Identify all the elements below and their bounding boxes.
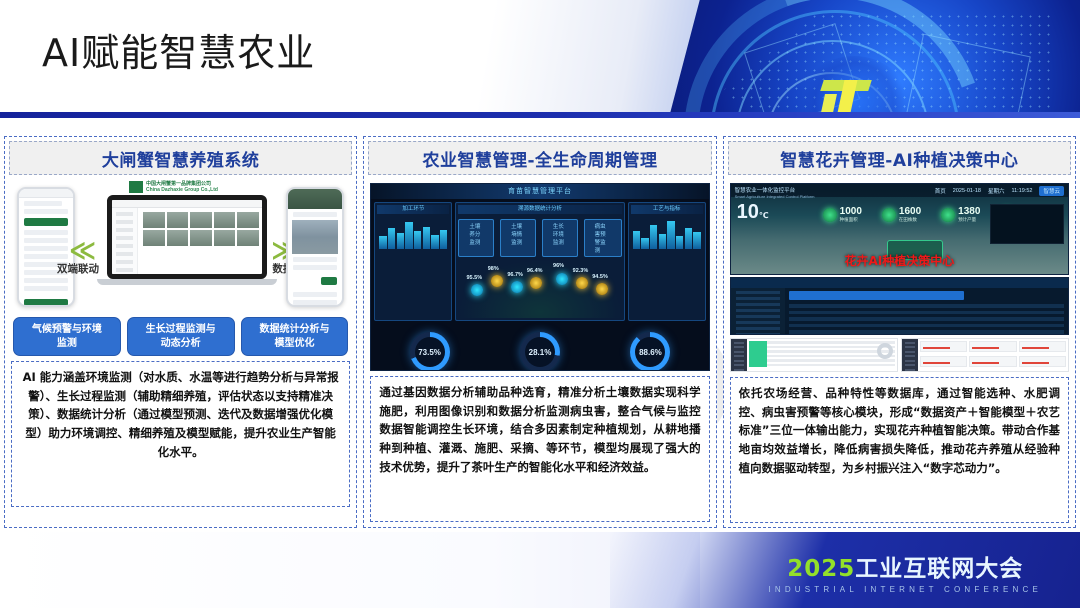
metric-area: 1000 种植面积 [823, 206, 862, 223]
header-meta-3: 11:19:52 [1011, 188, 1032, 194]
panel-smart-flower: 智慧花卉管理-AI种植决策中心 智慧农业一体化监控平台 Smart Agricu… [723, 136, 1076, 528]
panel-2-body: 育苗智慧管理平台 加工环节 溯源数据统计分析 土壤 [368, 175, 711, 522]
metric-area-icon [823, 208, 837, 222]
panel-1-text-box: AI 能力涵盖环境监测（对水质、水温等进行趋势分析与异常报警）、生长过程监测（辅… [11, 361, 350, 507]
slide-root: AI赋能智慧农业 大闸蟹智慧养殖系统 [0, 0, 1080, 608]
dashboard-col-label-1: 溯源数据统计分析 [458, 205, 621, 214]
kpi-unit: ℃ [759, 211, 769, 220]
lifecycle-dashboard: 育苗智慧管理平台 加工环节 溯源数据统计分析 土壤 [370, 183, 709, 371]
panel-2-heading-box: 农业智慧管理-全生命周期管理 [368, 141, 711, 175]
metric-area-value: 1000 [840, 206, 862, 217]
flower-dashboard-header: 智慧农业一体化监控平台 Smart Agriculture Integrated… [731, 184, 1068, 197]
gauge-value-2: 88.6% [639, 348, 662, 357]
node-label-6: 94.5% [592, 274, 608, 280]
gauge-value-0: 73.5% [418, 348, 441, 357]
metric-yield-label: 预计产量 [958, 217, 980, 223]
panel-1-tag-row: 气候预警与环境监测 生长过程监测与动态分析 数据统计分析与模型优化 [11, 311, 350, 356]
dashboard-button-soil-nutrient[interactable]: 土壤养分监测 [458, 219, 494, 257]
panel-1-heading-box: 大闸蟹智慧养殖系统 [9, 141, 352, 175]
slide-header: AI赋能智慧农业 [0, 0, 1080, 118]
gauge-nutrient: 88.6% 养分含量监测 [630, 332, 670, 371]
node-label-4: 96% [553, 263, 564, 269]
panel-3-text-box: 依托农场经营、品种特性等数据库，通过智能选种、水肥调控、病虫害预警等核心模块，形… [730, 377, 1069, 523]
dashboard-center-column: 溯源数据统计分析 土壤养分监测 土壤墒情监测 生长环境监测 病虫害预警监测 [455, 202, 624, 321]
admin-screen-right [901, 338, 1069, 372]
panel-2-heading: 农业智慧管理-全生命周期管理 [422, 146, 657, 171]
panel-row: 大闸蟹智慧养殖系统 [0, 136, 1080, 528]
panel-2-description: 通过基因数据分析辅助品种选育，精准分析土壤数据实现科学施肥，利用图像识别和数据分… [371, 377, 708, 476]
metric-area-label: 种植面积 [840, 217, 862, 223]
gauge-value-1: 28.1% [529, 348, 552, 357]
conference-year: 2025 [787, 556, 855, 582]
dashboard-button-row: 土壤养分监测 土壤墒情监测 生长环境监测 病虫害预警监测 [458, 217, 621, 260]
kpi-value: 10 [737, 201, 759, 223]
node-label-5: 92.3% [573, 268, 589, 274]
node-label-2: 96.7% [507, 272, 523, 278]
header-meta-4[interactable]: 智慧云 [1039, 186, 1064, 196]
flower-dashboard-title-cn: 智慧农业一体化监控平台 [735, 186, 815, 194]
flower-dashboard-title-en: Smart Agriculture Integrated Control Pla… [735, 194, 815, 199]
panel-1-heading: 大闸蟹智慧养殖系统 [102, 146, 260, 171]
metric-plants: 1600 在田株数 [882, 206, 921, 223]
flower-admin-screens [730, 338, 1069, 372]
dashboard-col-label-2: 工艺与指标 [631, 205, 703, 214]
dashboard-title: 育苗智慧管理平台 [371, 184, 708, 199]
panel-crab-farming: 大闸蟹智慧养殖系统 [4, 136, 357, 528]
panel-1-body: 中国大闸蟹第一品牌集团公司 China Dazhaxie Group Co.,L… [9, 175, 352, 507]
page-title: AI赋能智慧农业 [42, 22, 315, 77]
footer-left-background [0, 532, 700, 608]
tag-data-analysis[interactable]: 数据统计分析与模型优化 [241, 317, 349, 356]
red-caption-ai-center: 花卉AI种植决策中心 [731, 252, 1068, 269]
metric-yield-value: 1380 [958, 206, 980, 217]
header-rule [0, 112, 1080, 118]
metric-plants-value: 1600 [899, 206, 921, 217]
panel-2-text-box: 通过基因数据分析辅助品种选育，精准分析土壤数据实现科学施肥，利用图像识别和数据分… [370, 376, 709, 522]
dashboard-bar-chart-right [631, 217, 703, 249]
metric-yield-icon [941, 208, 955, 222]
panel-3-body: 智慧农业一体化监控平台 Smart Agriculture Integrated… [728, 175, 1071, 523]
company-brand-logo: 中国大闸蟹第一品牌集团公司 China Dazhaxie Group Co.,L… [129, 181, 218, 194]
node-label-0: 95.5% [466, 275, 482, 281]
phone-mockup-left [17, 187, 75, 307]
dashboard-button-pest-warning[interactable]: 病虫害预警监测 [584, 219, 622, 257]
dashboard-bar-chart-left [377, 217, 449, 249]
dashboard-node-graph: 95.5% 98% 96.7% 96.4% 96% 92.3% 94.5% [458, 260, 621, 318]
phone-mockup-right [286, 187, 344, 307]
panel-3-heading: 智慧花卉管理-AI种植决策中心 [780, 146, 1018, 171]
gauge-soil-moisture: 73.5% 土壤湿度监测 [410, 332, 450, 371]
flower-camera-feed [990, 204, 1064, 244]
brand-mark-icon [129, 181, 143, 193]
header-meta-1: 2025-01-18 [953, 188, 981, 194]
node-label-3: 96.4% [527, 268, 543, 274]
metric-plants-icon [882, 208, 896, 222]
tag-growth-monitoring[interactable]: 生长过程监测与动态分析 [127, 317, 235, 356]
conference-name-cn: 工业互联网大会 [855, 556, 1023, 582]
conference-logo: 2025工业互联网大会 INDUSTRIAL INTERNET CONFEREN… [768, 558, 1042, 594]
tag-climate-warning[interactable]: 气候预警与环境监测 [13, 317, 121, 356]
slide-footer: 2025工业互联网大会 INDUSTRIAL INTERNET CONFEREN… [0, 532, 1080, 608]
flower-secondary-dashboard: 无土栽培高附加值作物及立体种植系统 [730, 277, 1069, 335]
brand-name-en: China Dazhaxie Group Co.,Ltd [146, 187, 218, 193]
gauge-temperature: 28.1% 环境温度监测 [520, 332, 560, 371]
flower-kpi: 10℃ [737, 202, 769, 222]
panel-3-heading-box: 智慧花卉管理-AI种植决策中心 [728, 141, 1071, 175]
metric-plants-label: 在田株数 [899, 217, 921, 223]
dashboard-top-row: 加工环节 溯源数据统计分析 土壤养分监测 土壤墒情监测 生长环境 [371, 199, 708, 324]
metric-yield: 1380 预计产量 [941, 206, 980, 223]
dashboard-button-environment[interactable]: 生长环境监测 [542, 219, 578, 257]
panel-1-media: 中国大闸蟹第一品牌集团公司 China Dazhaxie Group Co.,L… [11, 183, 350, 311]
header-meta-0[interactable]: 首页 [935, 187, 946, 195]
conference-name-en: INDUSTRIAL INTERNET CONFERENCE [768, 585, 1042, 594]
admin-screen-left [730, 338, 898, 372]
panel-1-description: AI 能力涵盖环境监测（对水质、水温等进行趋势分析与异常报警）、生长过程监测（辅… [12, 362, 349, 461]
panel-3-description: 依托农场经营、品种特性等数据库，通过智能选种、水肥调控、病虫害预警等核心模块，形… [731, 378, 1068, 477]
laptop-mockup [107, 195, 267, 285]
panel-agriculture-lifecycle: 农业智慧管理-全生命周期管理 育苗智慧管理平台 加工环节 [363, 136, 716, 528]
dashboard-gauge-row: 73.5% 土壤湿度监测 28.1% 环境温度监测 88.6% 养分含量监测 [371, 324, 708, 371]
dashboard-col-label-0: 加工环节 [377, 205, 449, 214]
header-meta-2: 星期六 [988, 187, 1005, 195]
node-label-1: 98% [488, 266, 499, 272]
dashboard-right-column: 工艺与指标 [628, 202, 706, 321]
flower-control-dashboard: 智慧农业一体化监控平台 Smart Agriculture Integrated… [730, 183, 1069, 275]
arrow-left-label: 双端联动 [57, 261, 99, 276]
dashboard-left-column: 加工环节 [374, 202, 452, 321]
dashboard-button-soil-moisture[interactable]: 土壤墒情监测 [500, 219, 536, 257]
